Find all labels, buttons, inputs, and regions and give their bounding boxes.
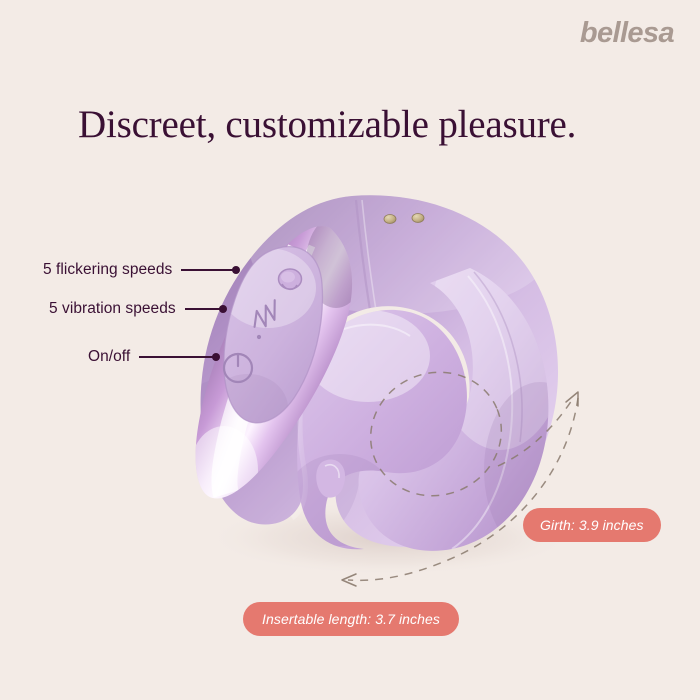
callout-vibration-speeds: 5 vibration speeds — [49, 300, 227, 318]
callout-flickering-speeds: 5 flickering speeds — [43, 261, 240, 279]
infographic-canvas: bellesa Discreet, customizable pleasure. — [0, 0, 700, 700]
callout-leader-dot — [212, 353, 220, 361]
callout-leader-line — [181, 269, 233, 270]
callout-leader-dot — [219, 305, 227, 313]
flicker-button-icon[interactable] — [279, 269, 302, 289]
callout-label: 5 flickering speeds — [43, 261, 172, 279]
callout-on-off: On/off — [88, 348, 220, 366]
callout-label: On/off — [88, 348, 130, 366]
insertable-length-badge: Insertable length: 3.7 inches — [243, 602, 459, 636]
callout-leader-line — [139, 356, 213, 357]
callout-leader-line — [185, 308, 220, 309]
callout-label: 5 vibration speeds — [49, 300, 176, 318]
girth-badge: Girth: 3.9 inches — [523, 508, 661, 542]
callout-leader-dot — [232, 266, 240, 274]
